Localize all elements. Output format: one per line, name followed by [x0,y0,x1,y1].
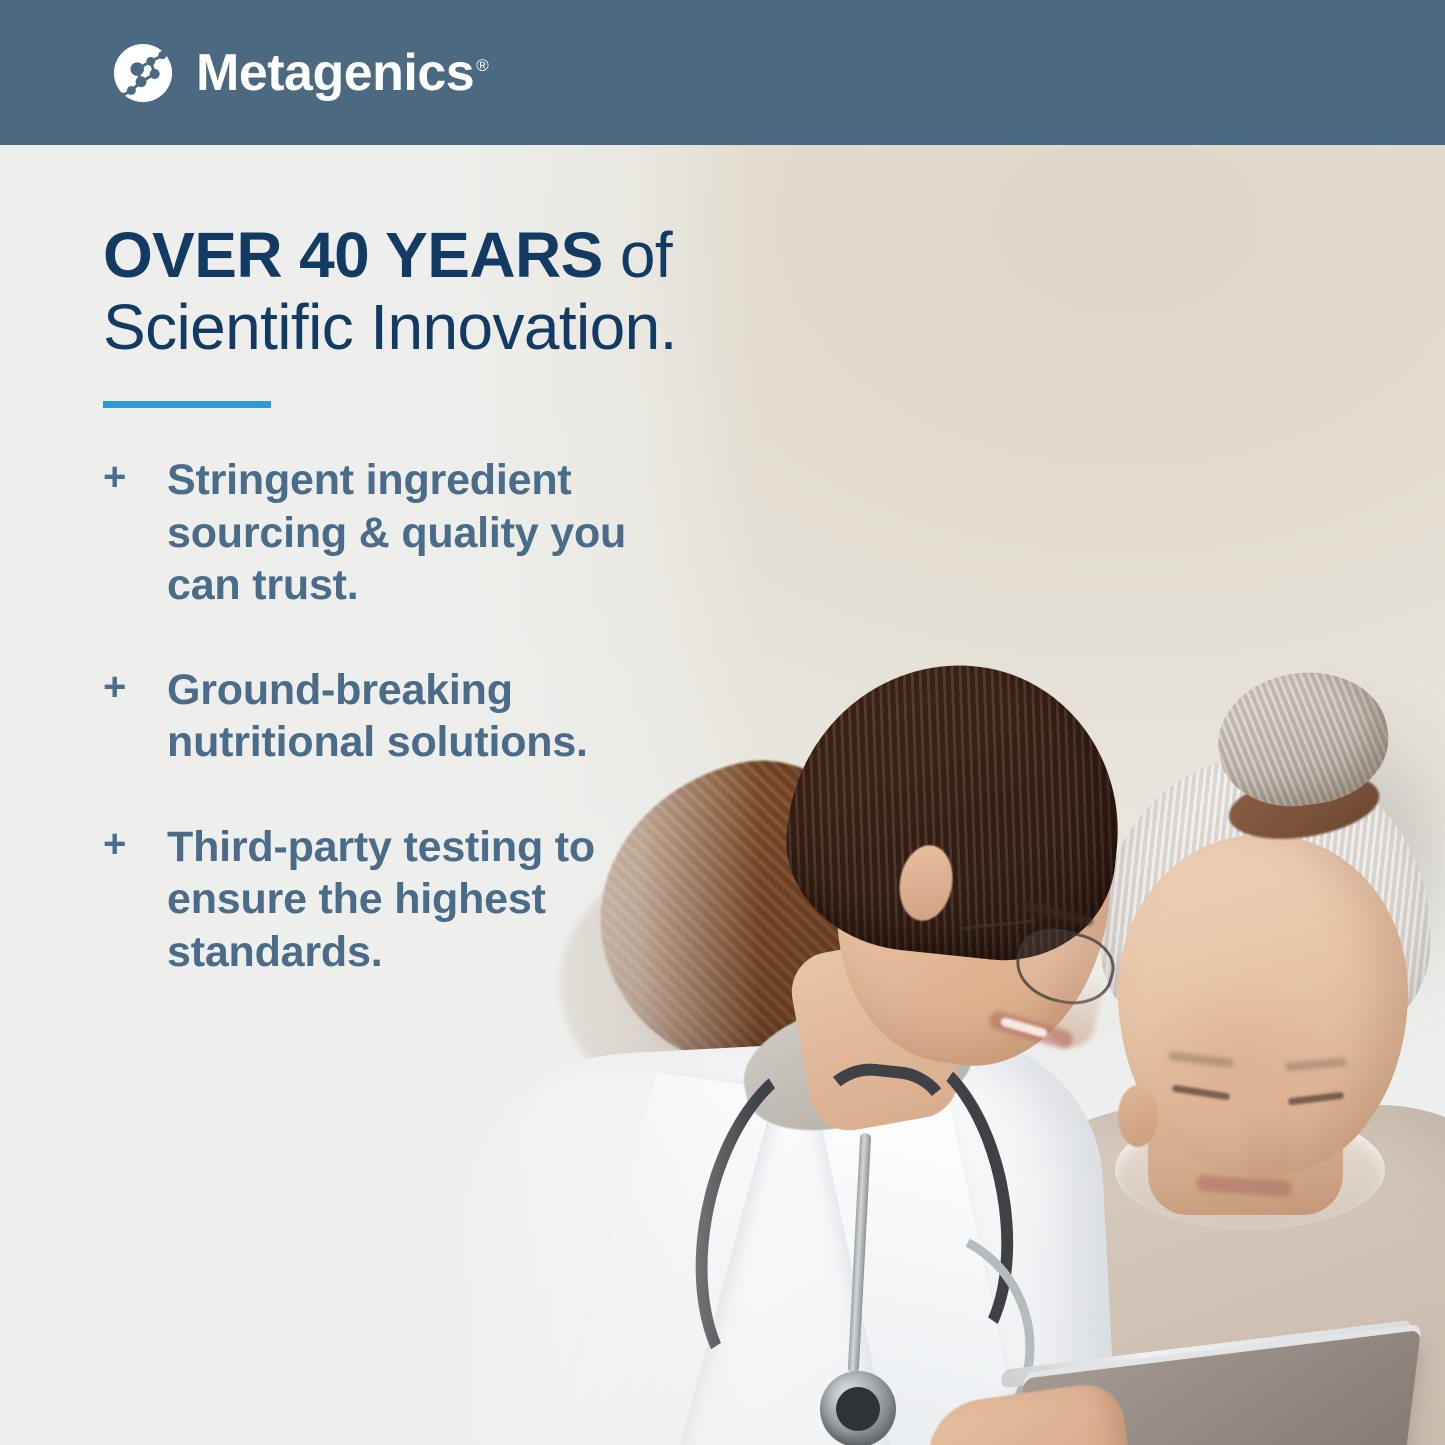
registered-trademark-symbol: ® [476,56,488,75]
molecule-circle-icon [112,42,174,104]
list-item: + Ground-breaking nutritional solutions. [103,664,743,769]
list-item-label: Stringent ingredient sourcing & quality … [167,454,637,611]
marketing-poster: Metagenics® OVER 40 YEARS of Scientific … [0,0,1445,1445]
plus-icon: + [103,821,137,868]
headline-connector: of [603,219,672,291]
brand-header: Metagenics® [0,0,1445,145]
stethoscope-chestpiece [820,1371,896,1445]
brand-wordmark: Metagenics® [196,47,488,99]
list-item-label: Third-party testing to ensure the highes… [167,821,637,978]
headline-emphasis: OVER 40 YEARS [103,219,603,291]
list-item-label: Ground-breaking nutritional solutions. [167,664,637,769]
content-block: OVER 40 YEARS of Scientific Innovation. … [103,220,743,978]
plus-icon: + [103,454,137,501]
accent-divider [103,401,271,408]
headline-line-two: Scientific Innovation. [103,291,677,363]
brand-name: Metagenics [196,44,474,102]
patient-ear [1118,1085,1158,1147]
patient-nose [1246,1105,1290,1185]
list-item: + Stringent ingredient sourcing & qualit… [103,454,743,611]
benefits-list: + Stringent ingredient sourcing & qualit… [103,454,743,978]
list-item: + Third-party testing to ensure the high… [103,821,743,978]
plus-icon: + [103,664,137,711]
page-title: OVER 40 YEARS of Scientific Innovation. [103,220,743,363]
